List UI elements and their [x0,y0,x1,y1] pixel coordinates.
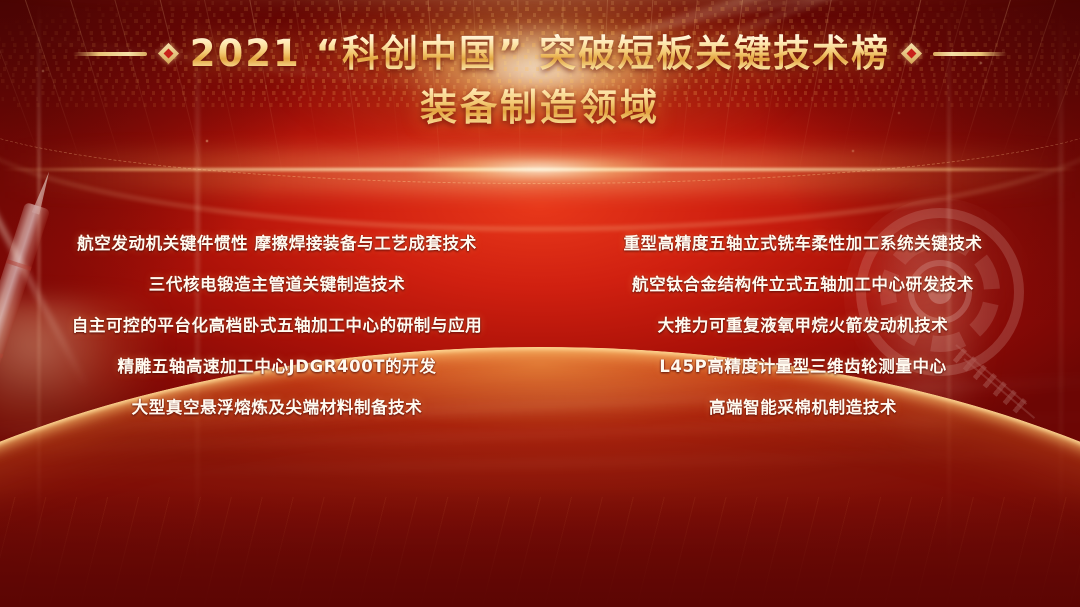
spark-particle [206,140,208,142]
list-item: 三代核电锻造主管道关键制造技术 [14,273,540,314]
list-item: 重型高精度五轴立式铣车柔性加工系统关键技术 [540,232,1066,273]
list-item: 航空发动机关键件惯性 摩擦焊接装备与工艺成套技术 [14,232,540,273]
poster-canvas: 2021 “科创中国” 突破短板关键技术榜 装备制造领域 航空发动机关键件惯性 … [0,0,1080,607]
list-item: 高端智能采棉机制造技术 [540,396,1066,437]
background-bottom-vignette [0,487,1080,607]
poster-title-block: 2021 “科创中国” 突破短板关键技术榜 装备制造领域 [0,34,1080,131]
city-light-row [0,19,1080,23]
list-item: 精雕五轴高速加工中心JDGR400T的开发 [14,355,540,396]
ornament-line-right [933,52,1007,56]
tech-list-right-column: 重型高精度五轴立式铣车柔性加工系统关键技术 航空钛合金结构件立式五轴加工中心研发… [540,232,1080,437]
city-light-row [0,25,1080,29]
page-title: 2021 “科创中国” 突破短板关键技术榜 [190,34,890,73]
ornament-line-left [73,52,147,56]
spark-particle [852,150,854,152]
city-light-row [0,1,1080,5]
title-row-primary: 2021 “科创中国” 突破短板关键技术榜 [0,34,1080,73]
diamond-ornament-left-icon [158,43,179,64]
city-light-row [0,7,1080,11]
list-item: 大型真空悬浮熔炼及尖端材料制备技术 [14,396,540,437]
tech-list-columns: 航空发动机关键件惯性 摩擦焊接装备与工艺成套技术 三代核电锻造主管道关键制造技术… [0,232,1080,437]
page-subtitle: 装备制造领域 [0,77,1080,131]
list-item: 大推力可重复液氧甲烷火箭发动机技术 [540,314,1066,355]
list-item: 航空钛合金结构件立式五轴加工中心研发技术 [540,273,1066,314]
diamond-ornament-right-icon [901,43,922,64]
tech-list-left-column: 航空发动机关键件惯性 摩擦焊接装备与工艺成套技术 三代核电锻造主管道关键制造技术… [0,232,540,437]
city-light-row [0,13,1080,17]
list-item: 自主可控的平台化高档卧式五轴加工中心的研制与应用 [14,314,540,355]
list-item: L45P高精度计量型三维齿轮测量中心 [540,355,1066,396]
